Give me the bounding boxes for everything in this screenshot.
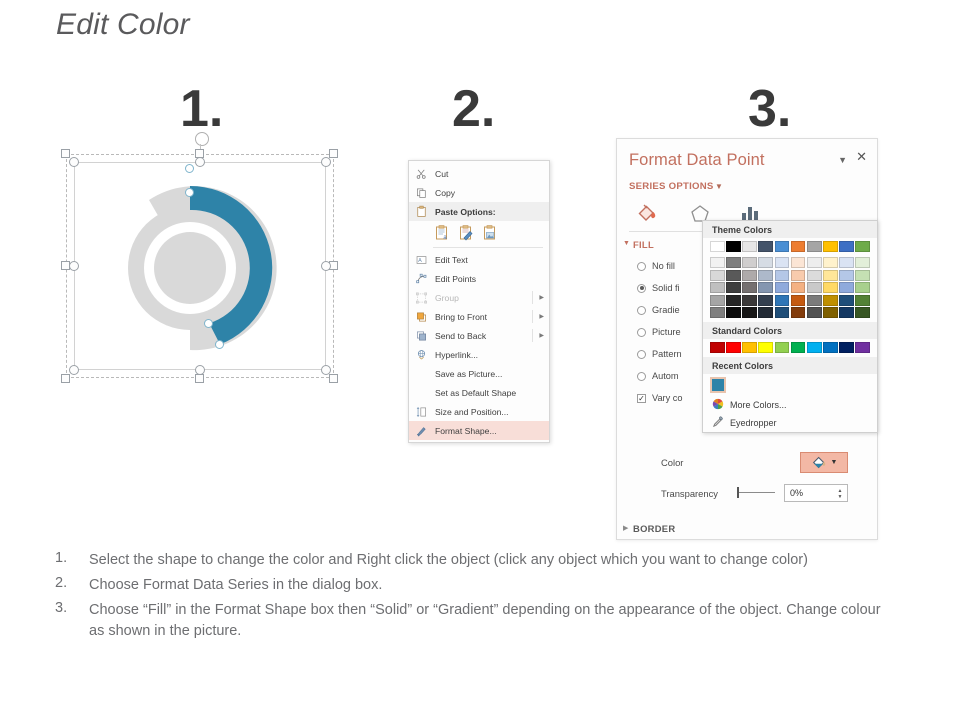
recent-colors-row[interactable] bbox=[703, 374, 877, 396]
transparency-label: Transparency bbox=[661, 488, 718, 499]
chevron-right-icon: ▶ bbox=[539, 313, 544, 320]
theme-variant-swatch-3-5[interactable] bbox=[791, 295, 806, 306]
radio-automatic[interactable] bbox=[637, 372, 646, 381]
paste-use-destination-theme-icon[interactable] bbox=[459, 225, 474, 241]
theme-variant-swatch-2-6[interactable] bbox=[807, 282, 822, 293]
theme-colors-header: Theme Colors bbox=[703, 221, 877, 238]
doughnut-center-disc bbox=[154, 232, 226, 304]
color-label: Color bbox=[661, 457, 683, 468]
theme-variant-swatch-2-3[interactable] bbox=[758, 282, 773, 293]
step-number-2: 2. bbox=[452, 83, 495, 135]
menu-label: Send to Back bbox=[435, 331, 486, 341]
more-colors-label: More Colors... bbox=[730, 400, 787, 410]
menu-item-save-as-picture[interactable]: Save as Picture... bbox=[409, 364, 549, 383]
standard-swatch-4[interactable] bbox=[775, 342, 790, 353]
theme-swatch-7[interactable] bbox=[823, 241, 838, 252]
menu-item-size-and-position[interactable]: Size and Position... bbox=[409, 402, 549, 421]
paste-icon bbox=[414, 204, 429, 219]
standard-swatch-8[interactable] bbox=[839, 342, 854, 353]
color-picker-chevron-down-icon[interactable]: ▼ bbox=[831, 459, 838, 466]
step-number-3: 3. bbox=[748, 83, 791, 135]
theme-variant-swatch-4-5[interactable] bbox=[791, 307, 806, 318]
theme-colors-row[interactable] bbox=[703, 238, 877, 256]
arc-point-bottom-inner[interactable] bbox=[204, 319, 213, 328]
format-shape-icon bbox=[414, 423, 429, 438]
submenu-divider bbox=[532, 291, 533, 304]
theme-variant-swatch-3-8[interactable] bbox=[839, 295, 854, 306]
theme-color-variants-grid[interactable] bbox=[703, 256, 877, 322]
theme-variant-swatch-4-1[interactable] bbox=[726, 307, 741, 318]
standard-colors-header: Standard Colors bbox=[703, 322, 877, 339]
theme-variant-swatch-4-2[interactable] bbox=[742, 307, 757, 318]
resize-handle-sw[interactable] bbox=[61, 374, 70, 383]
theme-variant-swatch-1-7[interactable] bbox=[823, 270, 838, 281]
transparency-stepper[interactable]: ▲▼ bbox=[835, 486, 845, 501]
menu-item-format-shape[interactable]: Format Shape... bbox=[409, 421, 549, 440]
arc-point-top-outer[interactable] bbox=[185, 164, 194, 173]
theme-swatch-4[interactable] bbox=[775, 241, 790, 252]
fill-section-expand-icon[interactable]: ▼ bbox=[623, 240, 630, 247]
theme-variant-swatch-2-7[interactable] bbox=[823, 282, 838, 293]
menu-label: Paste Options: bbox=[435, 207, 496, 217]
menu-label: Set as Default Shape bbox=[435, 388, 516, 398]
send-back-icon bbox=[414, 328, 429, 343]
fill-bucket-icon[interactable] bbox=[635, 201, 659, 230]
menu-label: Edit Text bbox=[435, 255, 468, 265]
menu-item-send-to-back[interactable]: Send to Back ▶ bbox=[409, 326, 549, 345]
shape-context-menu[interactable]: Cut Copy Paste Options: a bbox=[408, 160, 550, 443]
series-options-chevron-down-icon[interactable]: ▼ bbox=[715, 182, 723, 191]
group-icon bbox=[414, 290, 429, 305]
close-icon[interactable]: ✕ bbox=[856, 150, 867, 163]
standard-swatch-3[interactable] bbox=[758, 342, 773, 353]
theme-variant-swatch-1-9[interactable] bbox=[855, 270, 870, 281]
frame-handle-se[interactable] bbox=[321, 365, 331, 375]
theme-swatch-0[interactable] bbox=[710, 241, 725, 252]
theme-variant-swatch-0-1[interactable] bbox=[726, 257, 741, 268]
menu-item-set-default-shape[interactable]: Set as Default Shape bbox=[409, 383, 549, 402]
slide-canvas: Edit Color 1. 2. 3. bbox=[0, 0, 960, 720]
option-label: Gradie bbox=[652, 305, 680, 315]
size-position-icon bbox=[414, 404, 429, 419]
theme-variant-swatch-0-0[interactable] bbox=[710, 257, 725, 268]
theme-variant-swatch-4-4[interactable] bbox=[775, 307, 790, 318]
theme-variant-swatch-2-5[interactable] bbox=[791, 282, 806, 293]
theme-variant-swatch-0-3[interactable] bbox=[758, 257, 773, 268]
step1-illustration bbox=[58, 146, 342, 386]
fill-option-gradient-fill[interactable]: Gradie bbox=[637, 305, 680, 315]
theme-variant-swatch-4-7[interactable] bbox=[823, 307, 838, 318]
chevron-right-icon: ▶ bbox=[539, 294, 544, 301]
instruction-text: Select the shape to change the color and… bbox=[89, 550, 808, 571]
theme-variant-swatch-0-5[interactable] bbox=[791, 257, 806, 268]
transparency-slider-thumb[interactable] bbox=[737, 487, 739, 498]
instruction-item: 2. Choose Format Data Series in the dial… bbox=[55, 575, 885, 596]
standard-swatch-1[interactable] bbox=[726, 342, 741, 353]
more-colors-item[interactable]: More Colors... bbox=[703, 396, 877, 414]
eyedropper-icon bbox=[712, 416, 724, 430]
theme-variant-swatch-0-2[interactable] bbox=[742, 257, 757, 268]
theme-variant-swatch-2-1[interactable] bbox=[726, 282, 741, 293]
theme-swatch-3[interactable] bbox=[758, 241, 773, 252]
menu-item-bring-to-front[interactable]: Bring to Front ▶ bbox=[409, 307, 549, 326]
paste-options-row[interactable]: a bbox=[409, 221, 549, 245]
instruction-number: 2. bbox=[55, 575, 89, 596]
paste-picture-icon[interactable] bbox=[483, 225, 498, 241]
theme-swatch-8[interactable] bbox=[839, 241, 854, 252]
stepper-down-icon[interactable]: ▼ bbox=[838, 494, 843, 500]
eyedropper-item[interactable]: Eyedropper bbox=[703, 414, 877, 432]
edit-text-icon: A bbox=[414, 252, 429, 267]
menu-label: Edit Points bbox=[435, 274, 476, 284]
instruction-number: 1. bbox=[55, 550, 89, 571]
instruction-number: 3. bbox=[55, 600, 89, 642]
standard-swatch-2[interactable] bbox=[742, 342, 757, 353]
menu-label: Group bbox=[435, 293, 459, 303]
pane-title: Format Data Point bbox=[629, 151, 765, 170]
theme-variant-swatch-3-7[interactable] bbox=[823, 295, 838, 306]
paste-keep-source-formatting-icon[interactable]: a bbox=[435, 225, 450, 241]
radio-solid-fill[interactable] bbox=[637, 284, 646, 293]
resize-handle-se[interactable] bbox=[329, 374, 338, 383]
instruction-item: 1. Select the shape to change the color … bbox=[55, 550, 885, 571]
theme-variant-swatch-2-0[interactable] bbox=[710, 282, 725, 293]
menu-label: Format Shape... bbox=[435, 426, 497, 436]
theme-variant-swatch-2-2[interactable] bbox=[742, 282, 757, 293]
transparency-input[interactable]: 0% ▲▼ bbox=[784, 484, 848, 502]
option-label: Autom bbox=[652, 371, 679, 381]
instructions-list: 1. Select the shape to change the color … bbox=[55, 550, 885, 642]
theme-variant-swatch-0-6[interactable] bbox=[807, 257, 822, 268]
menu-label: Bring to Front bbox=[435, 312, 487, 322]
theme-variant-swatch-1-3[interactable] bbox=[758, 270, 773, 281]
copy-icon bbox=[414, 185, 429, 200]
resize-handle-nw[interactable] bbox=[61, 149, 70, 158]
edit-points-icon bbox=[414, 271, 429, 286]
theme-swatch-5[interactable] bbox=[791, 241, 806, 252]
theme-variant-swatch-1-4[interactable] bbox=[775, 270, 790, 281]
fill-option-picture-fill[interactable]: Picture bbox=[637, 327, 681, 337]
theme-variant-swatch-1-1[interactable] bbox=[726, 270, 741, 281]
theme-variant-swatch-3-6[interactable] bbox=[807, 295, 822, 306]
option-label: Pattern bbox=[652, 349, 682, 359]
menu-item-copy[interactable]: Copy bbox=[409, 183, 549, 202]
theme-variant-swatch-4-0[interactable] bbox=[710, 307, 725, 318]
option-label: Vary co bbox=[652, 393, 682, 403]
theme-variant-swatch-3-3[interactable] bbox=[758, 295, 773, 306]
theme-variant-swatch-3-0[interactable] bbox=[710, 295, 725, 306]
frame-handle-e[interactable] bbox=[321, 261, 331, 271]
paint-bucket-icon bbox=[811, 455, 828, 470]
vary-colors-checkbox-row[interactable]: ✓ Vary co bbox=[637, 393, 682, 403]
theme-variant-swatch-0-9[interactable] bbox=[855, 257, 870, 268]
theme-variant-swatch-4-9[interactable] bbox=[855, 307, 870, 318]
menu-label: Save as Picture... bbox=[435, 369, 502, 379]
theme-swatch-9[interactable] bbox=[855, 241, 870, 252]
arc-point-bottom-outer[interactable] bbox=[215, 340, 224, 349]
doughnut-chart[interactable] bbox=[90, 168, 290, 368]
theme-swatch-2[interactable] bbox=[742, 241, 757, 252]
svg-text:A: A bbox=[418, 258, 422, 264]
transparency-slider-track[interactable] bbox=[739, 492, 775, 493]
theme-variant-swatch-0-4[interactable] bbox=[775, 257, 790, 268]
standard-swatch-7[interactable] bbox=[823, 342, 838, 353]
standard-swatch-6[interactable] bbox=[807, 342, 822, 353]
eyedropper-label: Eyedropper bbox=[730, 418, 777, 428]
resize-handle-s[interactable] bbox=[195, 374, 204, 383]
border-section-expand-icon[interactable]: ▶ bbox=[623, 524, 628, 532]
fill-option-solid-fill[interactable]: Solid fi bbox=[637, 283, 680, 293]
theme-variant-swatch-0-7[interactable] bbox=[823, 257, 838, 268]
radio-no-fill[interactable] bbox=[637, 262, 646, 271]
frame-handle-w[interactable] bbox=[69, 261, 79, 271]
theme-variant-swatch-1-0[interactable] bbox=[710, 270, 725, 281]
menu-item-hyperlink[interactable]: Hyperlink... bbox=[409, 345, 549, 364]
theme-variant-swatch-1-8[interactable] bbox=[839, 270, 854, 281]
theme-variant-swatch-2-4[interactable] bbox=[775, 282, 790, 293]
menu-label: Size and Position... bbox=[435, 407, 509, 417]
frame-handle-sw[interactable] bbox=[69, 365, 79, 375]
menu-label: Cut bbox=[435, 169, 448, 179]
fill-option-pattern-fill[interactable]: Pattern bbox=[637, 349, 682, 359]
theme-swatch-6[interactable] bbox=[807, 241, 822, 252]
instruction-item: 3. Choose “Fill” in the Format Shape box… bbox=[55, 600, 885, 642]
bring-front-icon bbox=[414, 309, 429, 324]
theme-variant-swatch-1-5[interactable] bbox=[791, 270, 806, 281]
recent-swatch-0[interactable] bbox=[710, 377, 726, 393]
instruction-text: Choose Format Data Series in the dialog … bbox=[89, 575, 382, 596]
standard-colors-row[interactable] bbox=[703, 339, 877, 357]
fill-section-label[interactable]: FILL bbox=[633, 239, 654, 250]
page-title: Edit Color bbox=[56, 8, 190, 42]
theme-variant-swatch-3-9[interactable] bbox=[855, 295, 870, 306]
resize-handle-ne[interactable] bbox=[329, 149, 338, 158]
series-options-label[interactable]: SERIES OPTIONS bbox=[629, 181, 714, 192]
radio-pattern-fill[interactable] bbox=[637, 350, 646, 359]
menu-item-group: Group ▶ bbox=[409, 288, 549, 307]
frame-handle-ne[interactable] bbox=[321, 157, 331, 167]
theme-variant-swatch-2-9[interactable] bbox=[855, 282, 870, 293]
hyperlink-icon bbox=[414, 347, 429, 362]
menu-item-edit-points[interactable]: Edit Points bbox=[409, 269, 549, 288]
chevron-down-icon[interactable]: ▼ bbox=[838, 155, 847, 165]
theme-variant-swatch-4-3[interactable] bbox=[758, 307, 773, 318]
frame-handle-nw[interactable] bbox=[69, 157, 79, 167]
color-dropdown-panel[interactable]: Theme Colors Standard Colors Recent Colo… bbox=[702, 220, 878, 433]
option-label: No fill bbox=[652, 261, 675, 271]
theme-variant-swatch-1-2[interactable] bbox=[742, 270, 757, 281]
menu-separator bbox=[433, 247, 543, 248]
arc-point-top-inner[interactable] bbox=[185, 188, 194, 197]
theme-swatch-1[interactable] bbox=[726, 241, 741, 252]
radio-picture-fill[interactable] bbox=[637, 328, 646, 337]
transparency-value: 0% bbox=[790, 488, 803, 498]
option-label: Solid fi bbox=[652, 283, 680, 293]
menu-item-cut[interactable]: Cut bbox=[409, 164, 549, 183]
menu-item-edit-text[interactable]: A Edit Text bbox=[409, 250, 549, 269]
option-label: Picture bbox=[652, 327, 681, 337]
standard-swatch-5[interactable] bbox=[791, 342, 806, 353]
scissors-icon bbox=[414, 166, 429, 181]
doughnut-chart-svg bbox=[90, 168, 290, 368]
color-picker-button[interactable]: ▼ bbox=[800, 452, 848, 473]
radio-gradient-fill[interactable] bbox=[637, 306, 646, 315]
theme-variant-swatch-2-8[interactable] bbox=[839, 282, 854, 293]
theme-variant-swatch-0-8[interactable] bbox=[839, 257, 854, 268]
theme-variant-swatch-3-2[interactable] bbox=[742, 295, 757, 306]
menu-header-paste-options: Paste Options: bbox=[409, 202, 549, 221]
theme-variant-swatch-4-6[interactable] bbox=[807, 307, 822, 318]
standard-swatch-9[interactable] bbox=[855, 342, 870, 353]
theme-variant-swatch-1-6[interactable] bbox=[807, 270, 822, 281]
rotation-handle-icon[interactable] bbox=[195, 132, 209, 146]
frame-handle-n[interactable] bbox=[195, 157, 205, 167]
standard-swatch-0[interactable] bbox=[710, 342, 725, 353]
submenu-divider bbox=[532, 310, 533, 323]
color-wheel-icon bbox=[712, 398, 724, 412]
step-number-1: 1. bbox=[180, 83, 223, 135]
menu-label: Hyperlink... bbox=[435, 350, 478, 360]
fill-option-automatic[interactable]: Autom bbox=[637, 371, 679, 381]
theme-variant-swatch-3-1[interactable] bbox=[726, 295, 741, 306]
theme-variant-swatch-3-4[interactable] bbox=[775, 295, 790, 306]
fill-option-no-fill[interactable]: No fill bbox=[637, 261, 675, 271]
menu-label: Copy bbox=[435, 188, 455, 198]
submenu-divider bbox=[532, 329, 533, 342]
chevron-right-icon: ▶ bbox=[539, 332, 544, 339]
instruction-text: Choose “Fill” in the Format Shape box th… bbox=[89, 600, 885, 642]
border-section-label[interactable]: BORDER bbox=[633, 523, 675, 534]
checkbox-vary-colors[interactable]: ✓ bbox=[637, 394, 646, 403]
theme-variant-swatch-4-8[interactable] bbox=[839, 307, 854, 318]
recent-colors-header: Recent Colors bbox=[703, 357, 877, 374]
